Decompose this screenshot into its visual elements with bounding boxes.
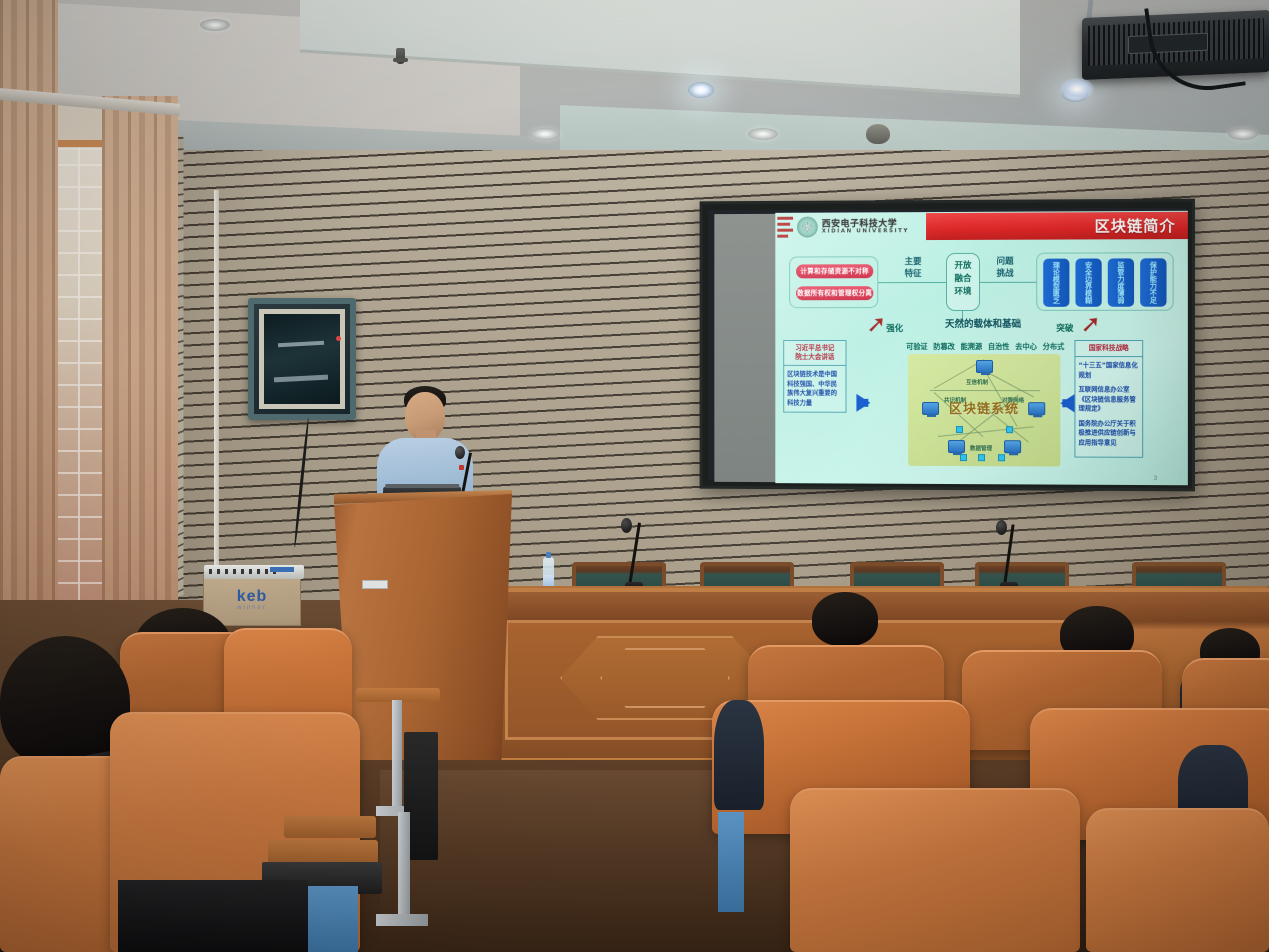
feature-pill: 数据所有权和管理权分离: [796, 286, 873, 300]
seat-foot: [376, 914, 428, 926]
policy-box-right-body: “十三五”国家信息化规划 互联网信息办公室《区块链信息服务管理规定》 国务院办公…: [1075, 357, 1142, 457]
downlight-icon: [688, 82, 714, 98]
podium: [334, 494, 512, 766]
block-chip-icon: [978, 454, 985, 461]
equipment-brand-sublabel: winner: [204, 605, 300, 611]
projector-beam: [1060, 78, 1094, 100]
feature-pill: 计算和存储资源不对称: [796, 264, 873, 278]
audience-coat: [118, 880, 308, 952]
downlight-icon: [200, 19, 230, 31]
seat-leg: [718, 812, 744, 912]
stage-diamond-motif-inner: [600, 648, 730, 708]
feature-tag: 可验证: [906, 342, 928, 352]
network-edge: [930, 390, 1040, 391]
quote-box-left-head: 习近平总书记院士大会讲话: [784, 341, 845, 366]
blockchain-system-title: 区块链系统: [908, 398, 1060, 417]
downlight-icon: [1228, 128, 1258, 140]
block-chip-icon: [1006, 426, 1013, 433]
equipment-box: keb winner: [203, 573, 301, 626]
connector-line: [878, 282, 946, 283]
status-led: [336, 336, 341, 341]
challenges-label: 问题挑战: [987, 256, 1023, 280]
seat-post: [398, 812, 410, 922]
challenge-pill: 监管力度薄弱: [1108, 258, 1134, 306]
auditorium-seat: [790, 788, 1080, 952]
glass-glare: [278, 341, 324, 347]
network-node-icon: [1004, 440, 1021, 453]
feature-tag: 能溯源: [961, 342, 983, 352]
quote-box-left: 习近平总书记院士大会讲话 区块链技术是中国科技强国、中华民族伟大复兴重要的科技力…: [783, 340, 846, 413]
slide-page-number: 3: [1154, 475, 1158, 482]
blockchain-network-diagram: 互信机制 共识机制 对等网络 数据管理 区块链系统: [908, 354, 1060, 467]
strengthen-label: 强化: [886, 322, 903, 334]
challenges-group: 理论模型匮乏 安全边界模糊 监管力度薄弱 保护能力不足: [1036, 252, 1173, 311]
policy-item: 国务院办公厅关于积极推进供应链创新与应用指导意见: [1078, 419, 1139, 448]
projection-screen: 西安电子科技大学 XIDIAN UNIVERSITY 区块链简介 计算和存储资源…: [700, 199, 1195, 492]
presenter-mic-marker: [459, 465, 464, 470]
up-arrow-icon: ➚: [1080, 312, 1102, 338]
av-rack-ports: [209, 569, 279, 574]
challenge-pill: 理论模型匮乏: [1043, 259, 1069, 307]
network-node-icon: [976, 360, 993, 373]
network-edge-label: 互信机制: [966, 378, 988, 386]
policy-item: “十三五”国家信息化规划: [1078, 361, 1139, 380]
seat-leg: [300, 886, 358, 952]
slide-title-bar: 区块链简介: [926, 212, 1188, 240]
table-microphone-head: [996, 520, 1007, 535]
presentation-slide: 西安电子科技大学 XIDIAN UNIVERSITY 区块链简介 计算和存储资源…: [775, 211, 1188, 485]
lecture-hall-photo: 西安电子科技大学 XIDIAN UNIVERSITY 区块链简介 计算和存储资源…: [0, 0, 1269, 952]
slide-header: 西安电子科技大学 XIDIAN UNIVERSITY 区块链简介: [775, 211, 1188, 243]
main-features-label: 主要特征: [895, 256, 931, 280]
feature-tag: 分布式: [1043, 342, 1065, 352]
natural-carrier-label: 天然的载体和基础: [908, 316, 1058, 330]
challenge-pill: 保护能力不足: [1140, 258, 1166, 306]
university-emblem-icon: [797, 217, 818, 238]
audience-head: [812, 592, 878, 646]
right-pointing-arrow-icon: [856, 394, 870, 412]
main-features-group: 计算和存储资源不对称 数据所有权和管理权分离: [789, 256, 878, 308]
audience-body: [714, 700, 764, 810]
auditorium-seat: [1086, 808, 1269, 952]
up-arrow-icon: ➚: [866, 312, 888, 338]
seat-tablet-post: [392, 700, 402, 812]
feature-tag: 自治性: [988, 342, 1010, 352]
block-chip-icon: [956, 426, 963, 433]
seat-tablet-arm: [284, 816, 376, 838]
wall-conduit: [214, 190, 219, 590]
quote-box-left-body: 区块链技术是中国科技强国、中华民族伟大复兴重要的科技力量: [784, 366, 845, 412]
policy-item: 互联网信息办公室《区块链信息服务管理规定》: [1078, 385, 1139, 414]
policy-box-right-head: 国家科技战略: [1075, 341, 1142, 357]
challenge-pill: 安全边界模糊: [1075, 258, 1101, 306]
sprinkler-icon: [396, 48, 405, 64]
center-concept-node: 开放融合环境: [946, 253, 980, 311]
slide-title: 区块链简介: [1095, 215, 1176, 237]
breakthrough-label: 突破: [1056, 322, 1073, 334]
av-rack-indicator: [270, 567, 294, 572]
block-chip-icon: [960, 454, 967, 461]
table-microphone-head: [621, 518, 632, 533]
policy-box-right: 国家科技战略 “十三五”国家信息化规划 互联网信息办公室《区块链信息服务管理规定…: [1074, 340, 1143, 458]
cabinet-glass: [259, 309, 345, 409]
left-pointing-arrow-icon: [1060, 394, 1074, 412]
glass-glare: [274, 375, 328, 383]
wall-mounted-cabinet: [248, 298, 356, 420]
connector-line: [980, 282, 1036, 283]
equipment-brand-label: keb: [204, 588, 300, 606]
presenter-microphone-head: [455, 446, 465, 459]
network-node-icon: [948, 440, 965, 453]
feature-tag: 去中心: [1015, 342, 1037, 352]
smoke-detector-icon: [866, 124, 890, 144]
downlight-icon: [530, 128, 560, 140]
block-chip-icon: [998, 454, 1005, 461]
network-edge-label: 数据管理: [970, 444, 992, 452]
downlight-icon: [748, 128, 778, 140]
decorative-bars-icon: [777, 217, 793, 239]
feature-tag: 防篡改: [933, 342, 955, 352]
university-name-en: XIDIAN UNIVERSITY: [822, 228, 909, 234]
feature-tag-row: 可验证 防篡改 能溯源 自治性 去中心 分布式: [906, 342, 1064, 352]
podium-nameplate: [362, 580, 388, 589]
